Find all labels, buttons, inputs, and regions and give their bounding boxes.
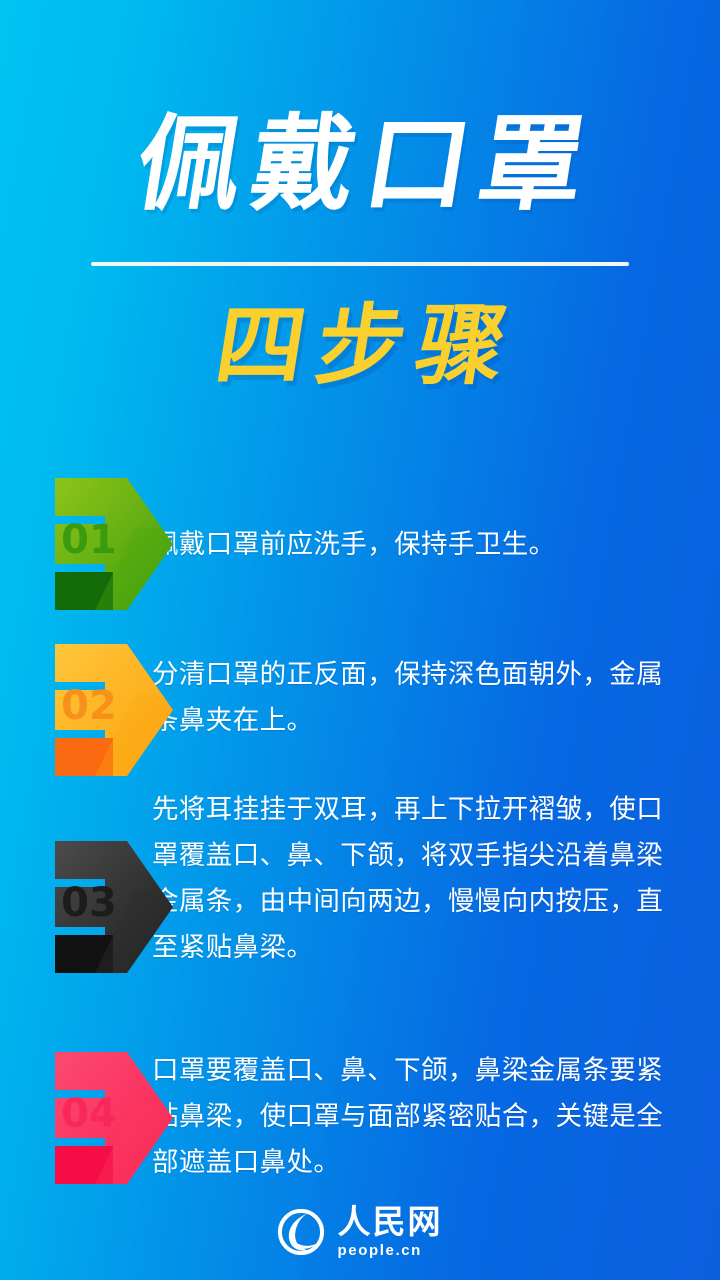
step-number: 02 bbox=[52, 683, 126, 729]
step-number-badge: 01 bbox=[55, 478, 173, 610]
poster-root: 佩戴口罩 四步骤 bbox=[0, 0, 720, 1280]
list-item: 04 口罩要覆盖口、鼻、下颌，鼻梁金属条要紧贴鼻梁，使口罩与面部紧密贴合，关键是… bbox=[0, 1030, 720, 1190]
step-description: 口罩要覆盖口、鼻、下颌，鼻梁金属条要紧贴鼻梁，使口罩与面部紧密贴合，关键是全部遮… bbox=[152, 1046, 720, 1186]
step-description: 先将耳挂挂于双耳，再上下拉开褶皱，使口罩覆盖口、鼻、下颌，将双手指尖沿着鼻梁金属… bbox=[152, 785, 720, 971]
logo-name-cn: 人民网 bbox=[338, 1205, 443, 1238]
step-description: 佩戴口罩前应洗手，保持手卫生。 bbox=[152, 520, 608, 568]
step-number-badge: 02 bbox=[55, 644, 173, 776]
step-number: 01 bbox=[52, 517, 126, 563]
people-globe-icon bbox=[278, 1209, 324, 1255]
list-item: 02 分清口罩的正反面，保持深色面朝外，金属条鼻夹在上。 bbox=[0, 620, 720, 785]
list-item: 01 佩戴口罩前应洗手，保持手卫生。 bbox=[0, 470, 720, 620]
page-title: 佩戴口罩 bbox=[0, 112, 720, 216]
poster-header: 佩戴口罩 四步骤 bbox=[0, 0, 720, 390]
footer-branding: 人民网 people.cn bbox=[0, 1205, 720, 1258]
title-divider bbox=[91, 262, 629, 266]
step-number: 04 bbox=[52, 1091, 126, 1137]
step-number-badge: 04 bbox=[55, 1052, 173, 1184]
step-number: 03 bbox=[52, 880, 126, 926]
step-number-badge: 03 bbox=[55, 841, 173, 973]
step-description: 分清口罩的正反面，保持深色面朝外，金属条鼻夹在上。 bbox=[152, 650, 720, 744]
page-subtitle: 四步骤 bbox=[0, 302, 720, 390]
logo-text-group: 人民网 people.cn bbox=[338, 1205, 443, 1258]
logo-name-en: people.cn bbox=[338, 1243, 422, 1258]
list-item: 03 先将耳挂挂于双耳，再上下拉开褶皱，使口罩覆盖口、鼻、下颌，将双手指尖沿着鼻… bbox=[0, 785, 720, 1030]
steps-list: 01 佩戴口罩前应洗手，保持手卫生。 bbox=[0, 470, 720, 1190]
